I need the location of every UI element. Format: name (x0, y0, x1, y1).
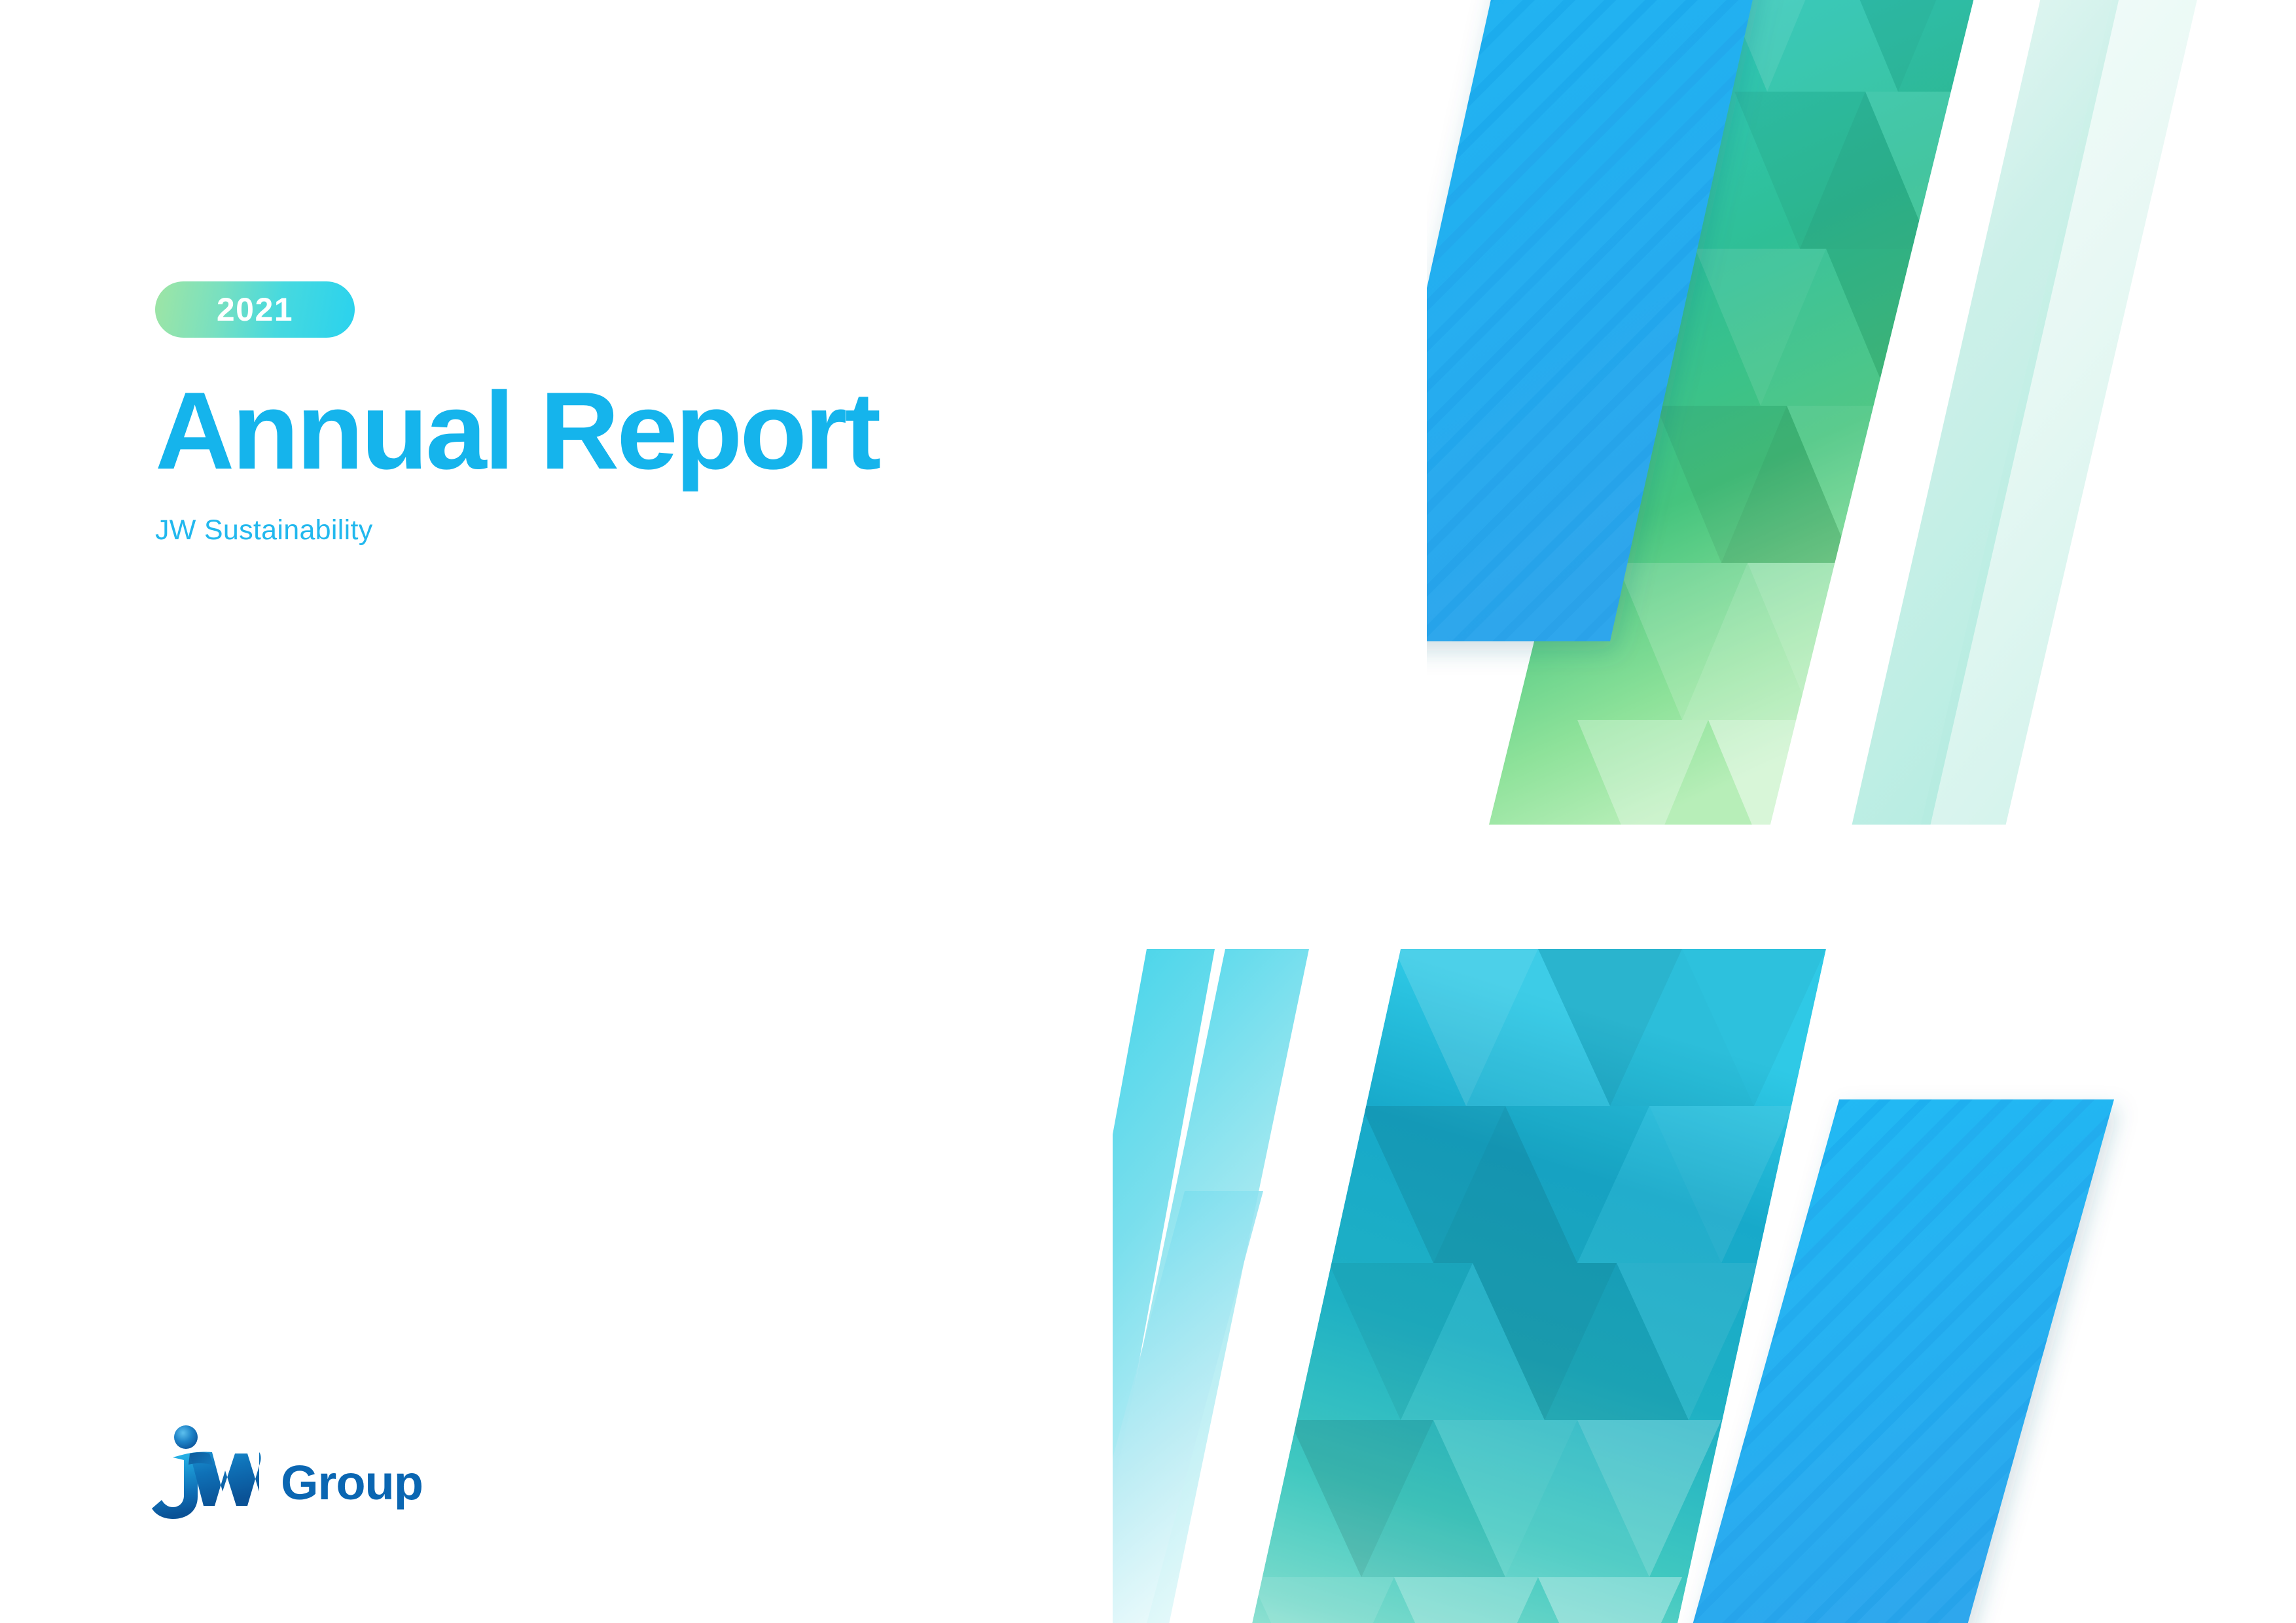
report-cover: 2021 Annual Report JW Sustainability (0, 0, 2296, 1623)
triangle-mosaic (1244, 949, 1826, 1623)
bottom-center-geometric-banner (1113, 929, 2296, 1623)
page-subtitle: JW Sustainability (155, 514, 878, 546)
blue-striped-panel (1636, 1060, 2225, 1623)
brand-logo: Group (149, 1423, 423, 1522)
cover-text-block: 2021 Annual Report JW Sustainability (155, 281, 878, 546)
page-title: Annual Report (155, 376, 878, 486)
brand-wordmark: Group (281, 1459, 423, 1522)
year-badge-label: 2021 (217, 293, 293, 326)
triangle-mosaic (1486, 0, 2062, 825)
year-badge: 2021 (155, 281, 355, 338)
blue-striped-panel (1427, 0, 1885, 713)
mint-bands (1849, 0, 2212, 825)
top-right-geometric-banner (1427, 0, 2296, 825)
cyan-accent-bands (1113, 949, 1309, 1623)
jw-logomark-icon (149, 1423, 264, 1522)
